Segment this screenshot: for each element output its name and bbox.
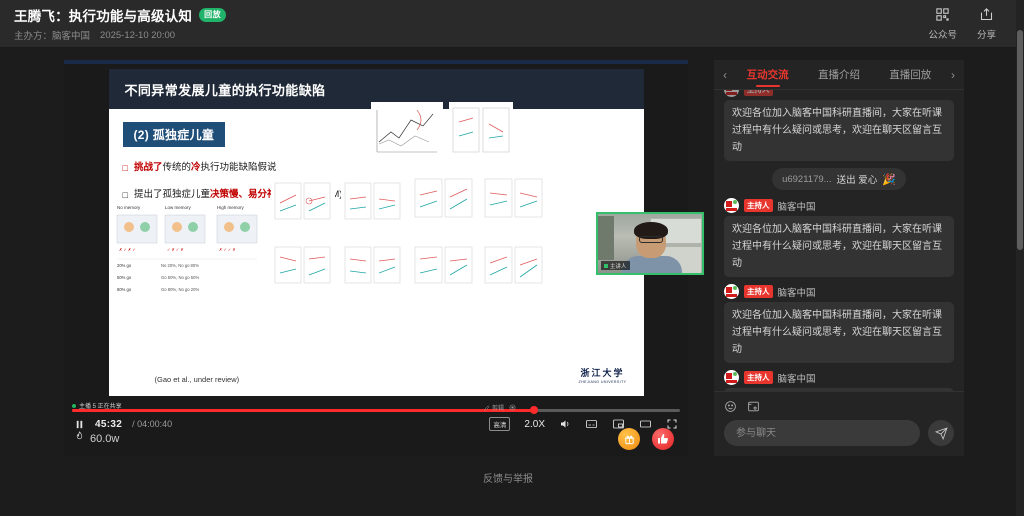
pip-speaker-glasses: [639, 236, 663, 243]
message-username: 脑客中国: [778, 371, 816, 385]
svg-text:No memory: No memory: [117, 205, 141, 210]
clip-label: 剪辑: [492, 403, 504, 412]
chat-message: 主持人 脑客中国 欢迎各位加入脑客中国科研直播间，大家在听课过程中有什么疑问或思…: [724, 284, 954, 363]
message-text: 欢迎各位加入脑客中国科研直播间，大家在听课过程中有什么疑问或思考，欢迎在聊天区留…: [724, 302, 954, 363]
gift-pill: u6921179... 送出 爱心 🎉: [772, 168, 906, 190]
host-badge: 主持人: [744, 199, 773, 212]
emoji-icon[interactable]: [724, 400, 737, 413]
pip-speaker-body: [622, 256, 682, 275]
svg-text:80% go: 80% go: [117, 287, 132, 292]
figure-reaction-time: [271, 239, 335, 295]
speaker-name-text: 主讲人: [610, 262, 627, 270]
host-badge: 主持人: [744, 285, 773, 298]
message-header: 主持人 脑客中国: [724, 198, 954, 213]
chat-input-row: [724, 420, 954, 446]
live-replay-page: 王腾飞：执行功能与高级认知 回放 主办方：脑客中国 2025-12-10 20:…: [0, 0, 1024, 516]
slide-title: 不同异常发展儿童的执行功能缺陷: [125, 80, 326, 99]
player-controls: 主播 5 正在共享 剪辑 45:32: [64, 401, 688, 456]
presentation-slide: 不同异常发展儿童的执行功能缺陷 (2) 孤独症儿童 □ 挑战了传统的冷执行功能缺…: [109, 69, 644, 396]
figure-commission-error: [271, 177, 335, 229]
title-row: 王腾飞：执行功能与高级认知 回放: [14, 5, 928, 25]
pause-button[interactable]: [74, 419, 85, 430]
progress-bar[interactable]: [72, 409, 680, 412]
share-button[interactable]: 分享: [977, 6, 996, 41]
figure-nondecision-time: [411, 239, 477, 295]
slide-section-chip: (2) 孤独症儿童: [123, 122, 226, 147]
figure-rt-variability: [341, 239, 405, 295]
subtitle-button[interactable]: [585, 418, 598, 430]
send-button[interactable]: [928, 420, 954, 446]
figure-ddm-schematic: [371, 102, 443, 164]
svg-text:Go 50%, No go 50%: Go 50%, No go 50%: [161, 275, 199, 280]
chat-message: 主持人 脑客中国 欢迎各位加入脑客中国科研直播间，大家在听课过程中有什么疑问或思…: [724, 370, 954, 391]
header-actions: 公众号 分享: [928, 6, 1002, 41]
video-stage: 不同异常发展儿童的执行功能缺陷 (2) 孤独症儿童 □ 挑战了传统的冷执行功能缺…: [64, 64, 688, 401]
svg-text:✓ ✗ ✓ ✗: ✓ ✗ ✓ ✗: [167, 247, 184, 252]
slide-citation: (Gao et al., under review): [155, 375, 240, 384]
avatar: [724, 198, 739, 213]
page-scrollbar[interactable]: [1016, 0, 1024, 516]
logo-cn-text: 浙江大学: [580, 366, 624, 379]
progress-fill: [72, 409, 534, 412]
video-player[interactable]: 不同异常发展儿童的执行功能缺陷 (2) 孤独症儿童 □ 挑战了传统的冷执行功能缺…: [64, 60, 688, 456]
chat-panel: ‹ 互动交流 直播介绍 直播回放 › 主持人 欢迎各位加入脑客中国科研直播间，大…: [714, 60, 964, 456]
figure-task-illustration: No memory Low memory High memory ✗ ✓ ✗ ✓: [113, 199, 263, 309]
clip-button[interactable]: 剪辑: [484, 403, 504, 412]
message-header: 主持人 脑客中国: [724, 284, 954, 299]
chat-message-list[interactable]: 主持人 欢迎各位加入脑客中国科研直播间，大家在听课过程中有什么疑问或思考，欢迎在…: [714, 90, 964, 391]
speaker-name-tag: 主讲人: [601, 261, 630, 270]
tabs-container: 互动交流 直播介绍 直播回放: [732, 60, 946, 89]
flame-icon: [74, 430, 85, 448]
chevron-left-icon[interactable]: ‹: [718, 68, 732, 82]
progress-extra-actions: 剪辑: [484, 403, 516, 412]
host-badge: 主持人: [744, 371, 773, 384]
pip-window: [598, 216, 614, 260]
celebration-icon: 🎉: [882, 173, 896, 186]
wechat-label: 公众号: [928, 27, 957, 41]
replay-badge: 回放: [199, 8, 226, 22]
svg-text:✗ ✓ ✓ ✗: ✗ ✓ ✓ ✗: [219, 247, 236, 252]
svg-text:No 20%, No go 80%: No 20%, No go 80%: [161, 263, 199, 268]
svg-text:✗ ✓ ✗ ✓: ✗ ✓ ✗ ✓: [119, 247, 136, 252]
chat-tabs: ‹ 互动交流 直播介绍 直播回放 ›: [714, 60, 964, 90]
event-datetime: 2025-12-10 20:00: [100, 30, 175, 41]
share-icon: [978, 6, 995, 23]
avatar: [724, 284, 739, 299]
chat-gift-message: u6921179... 送出 爱心 🎉: [724, 168, 954, 190]
svg-text:Go 80%, No go 20%: Go 80%, No go 20%: [161, 287, 199, 292]
figure-decision-boundary: [411, 171, 477, 229]
chat-message: 主持人 脑客中国 欢迎各位加入脑客中国科研直播间，大家在听课过程中有什么疑问或思…: [724, 198, 954, 277]
reaction-buttons: [618, 428, 674, 450]
gift-action: 送出 爱心: [837, 172, 878, 186]
record-button[interactable]: [509, 404, 516, 411]
figure-panel-top-right: [449, 102, 513, 164]
wechat-official-account-button[interactable]: 公众号: [928, 6, 957, 41]
header-info: 王腾飞：执行功能与高级认知 回放 主办方：脑客中国 2025-12-10 20:…: [14, 5, 928, 42]
svg-text:50% go: 50% go: [117, 275, 132, 280]
header-subtitle: 主办方：脑客中国 2025-12-10 20:00: [14, 28, 928, 42]
like-button[interactable]: [652, 428, 674, 450]
heat-indicator: 60.0w: [74, 430, 119, 448]
figure-extra-panel: [481, 239, 547, 295]
heat-value: 60.0w: [90, 433, 119, 445]
message-username: 脑客中国: [778, 285, 816, 299]
feedback-report-link[interactable]: 反馈与举报: [0, 470, 1016, 485]
slide-body: (2) 孤独症儿童 □ 挑战了传统的冷执行功能缺陷假说 □ 提出了孤独症儿童决策…: [109, 109, 644, 396]
page-header: 王腾飞：执行功能与高级认知 回放 主办方：脑客中国 2025-12-10 20:…: [0, 0, 1016, 48]
page-title: 王腾飞：执行功能与高级认知: [14, 5, 192, 25]
composer-tools: [724, 400, 954, 413]
image-icon[interactable]: [747, 400, 760, 413]
playback-speed-selector[interactable]: 2.0X: [524, 419, 545, 430]
quality-selector[interactable]: 高清: [489, 417, 510, 431]
svg-text:High memory: High memory: [217, 205, 245, 210]
svg-text:Low memory: Low memory: [165, 205, 192, 210]
message-username: 脑客中国: [778, 199, 816, 213]
avatar: [724, 370, 739, 385]
avatar: [724, 90, 739, 97]
scrollbar-thumb[interactable]: [1017, 30, 1023, 250]
speaker-camera-pip[interactable]: 主讲人: [596, 212, 704, 275]
message-text: 欢迎各位加入脑客中国科研直播间，大家在听课过程中有什么疑问或思考，欢迎在聊天区留…: [724, 216, 954, 277]
bullet-marker-icon: □: [123, 161, 128, 175]
tab-interactive-chat[interactable]: 互动交流: [747, 60, 789, 89]
gift-username: u6921179...: [782, 174, 831, 185]
status-dot-icon: [72, 404, 76, 408]
gift-button[interactable]: [618, 428, 640, 450]
figure-drift-rate: [481, 171, 547, 229]
chevron-right-icon[interactable]: ›: [946, 68, 960, 82]
current-time: 45:32: [95, 419, 122, 430]
tab-live-intro[interactable]: 直播介绍: [818, 60, 860, 89]
control-buttons-row: 45:32 / 04:00:40 高清 2.0X: [64, 413, 688, 435]
svg-text:20% go: 20% go: [117, 263, 132, 268]
live-dot-icon: [604, 264, 608, 268]
chat-composer: [714, 391, 964, 456]
university-logo: 浙江大学 ZHEJIANG UNIVERSITY: [572, 360, 634, 390]
share-label: 分享: [977, 27, 996, 41]
qrcode-icon: [934, 6, 951, 23]
logo-en-text: ZHEJIANG UNIVERSITY: [579, 380, 627, 384]
tab-live-replay[interactable]: 直播回放: [889, 60, 931, 89]
message-header: 主持人: [724, 90, 954, 97]
chat-message: 主持人 欢迎各位加入脑客中国科研直播间，大家在听课过程中有什么疑问或思考，欢迎在…: [724, 90, 954, 161]
figure-omission-error: [341, 177, 405, 229]
message-header: 主持人 脑客中国: [724, 370, 954, 385]
chat-input[interactable]: [724, 420, 920, 446]
total-time: / 04:00:40: [132, 419, 172, 429]
bullet-1-text: 挑战了传统的冷执行功能缺陷假说: [134, 161, 277, 175]
organizer-text: 主办方：脑客中国: [14, 28, 90, 42]
message-text: 欢迎各位加入脑客中国科研直播间，大家在听课过程中有什么疑问或思考，欢迎在聊天区留…: [724, 100, 954, 161]
host-badge: 主持人: [744, 90, 773, 96]
volume-button[interactable]: [559, 418, 571, 430]
